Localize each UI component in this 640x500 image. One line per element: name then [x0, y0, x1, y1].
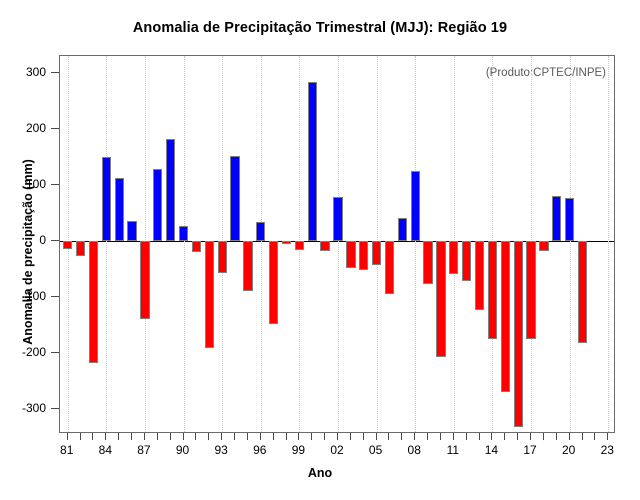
x-tick-label: 05	[369, 443, 382, 457]
plot-area: (Produto:CPTEC/INPE)	[59, 55, 615, 433]
bar-2015	[501, 241, 510, 392]
x-tick-mark	[131, 433, 132, 440]
x-tick-mark	[337, 433, 338, 440]
chart-figure: Anomalia de Precipitação Trimestral (MJJ…	[0, 0, 640, 500]
x-tick-mark	[273, 433, 274, 440]
gridline-vertical	[415, 56, 416, 432]
gridline-vertical	[608, 56, 609, 432]
x-tick-mark	[183, 433, 184, 440]
y-tick-mark	[51, 352, 59, 353]
bar-1991	[192, 241, 201, 252]
bar-1990	[179, 226, 188, 241]
x-tick-mark	[144, 433, 145, 440]
x-tick-mark	[530, 433, 531, 440]
bar-2011	[449, 241, 458, 275]
x-tick-mark	[324, 433, 325, 440]
bar-1987	[140, 241, 149, 319]
x-tick-mark	[221, 433, 222, 440]
y-tick-label: -200	[22, 345, 46, 359]
y-tick-label: 100	[26, 177, 46, 191]
bar-2010	[436, 241, 445, 357]
bar-1986	[127, 221, 136, 241]
bar-2004	[359, 241, 368, 270]
x-tick-label: 14	[485, 443, 498, 457]
x-tick-mark	[401, 433, 402, 440]
bar-1983	[89, 241, 98, 363]
bar-1989	[166, 139, 175, 240]
x-tick-label: 11	[447, 443, 459, 457]
x-tick-mark	[105, 433, 106, 440]
bar-2009	[423, 241, 432, 285]
bar-2001	[320, 241, 329, 251]
x-tick-mark	[582, 433, 583, 440]
x-tick-mark	[556, 433, 557, 440]
x-tick-mark	[517, 433, 518, 440]
x-tick-label: 08	[408, 443, 421, 457]
bar-1985	[115, 178, 124, 241]
bar-2002	[333, 197, 342, 241]
bar-2021	[578, 241, 587, 343]
y-tick-mark	[51, 72, 59, 73]
x-tick-label: 90	[176, 443, 189, 457]
x-tick-mark	[427, 433, 428, 440]
x-tick-label: 02	[330, 443, 343, 457]
bar-2008	[411, 171, 420, 240]
x-tick-mark	[543, 433, 544, 440]
x-tick-mark	[607, 433, 608, 440]
gridline-vertical	[570, 56, 571, 432]
y-tick-label: 200	[26, 121, 46, 135]
y-axis: Anomalia de precipitação (mm) 3002001000…	[0, 55, 59, 433]
bar-2006	[385, 241, 394, 294]
bar-2003	[346, 241, 355, 268]
bar-1993	[218, 241, 227, 273]
x-tick-mark	[298, 433, 299, 440]
x-tick-mark	[247, 433, 248, 440]
source-annotation: (Produto:CPTEC/INPE)	[486, 67, 606, 79]
x-tick-mark	[157, 433, 158, 440]
y-tick-mark	[51, 240, 59, 241]
bar-1999	[295, 241, 304, 251]
x-tick-mark	[453, 433, 454, 440]
x-tick-mark	[440, 433, 441, 440]
bar-2016	[514, 241, 523, 427]
bar-2012	[462, 241, 471, 281]
x-tick-mark	[208, 433, 209, 440]
x-axis-title: Ano	[0, 466, 640, 480]
bar-2014	[488, 241, 497, 339]
x-tick-mark	[466, 433, 467, 440]
y-tick-mark	[51, 128, 59, 129]
x-tick-mark	[350, 433, 351, 440]
x-tick-mark	[286, 433, 287, 440]
bar-2017	[526, 241, 535, 339]
x-tick-label: 81	[60, 443, 73, 457]
x-tick-mark	[569, 433, 570, 440]
x-tick-label: 23	[601, 443, 614, 457]
x-tick-mark	[195, 433, 196, 440]
bar-2007	[398, 218, 407, 241]
bar-1998	[282, 241, 291, 244]
chart-title: Anomalia de Precipitação Trimestral (MJJ…	[0, 20, 640, 36]
x-tick-label: 87	[137, 443, 150, 457]
x-tick-mark	[234, 433, 235, 440]
bar-1992	[205, 241, 214, 349]
x-tick-mark	[388, 433, 389, 440]
bar-1995	[243, 241, 252, 291]
bar-1982	[76, 241, 85, 257]
x-tick-mark	[376, 433, 377, 440]
x-tick-mark	[311, 433, 312, 440]
gridline-vertical	[261, 56, 262, 432]
bar-1988	[153, 169, 162, 241]
x-tick-mark	[504, 433, 505, 440]
bar-2020	[565, 198, 574, 241]
x-tick-mark	[118, 433, 119, 440]
x-tick-mark	[80, 433, 81, 440]
bar-2000	[308, 82, 317, 240]
y-tick-label: 300	[26, 65, 46, 79]
bar-1997	[269, 241, 278, 324]
gridline-vertical	[106, 56, 107, 432]
bar-1984	[102, 157, 111, 241]
x-tick-label: 93	[214, 443, 227, 457]
x-tick-label: 96	[253, 443, 266, 457]
x-tick-mark	[414, 433, 415, 440]
bar-1994	[230, 156, 239, 241]
x-tick-label: 99	[292, 443, 305, 457]
x-tick-label: 20	[562, 443, 575, 457]
bar-2005	[372, 241, 381, 265]
x-tick-mark	[491, 433, 492, 440]
x-tick-mark	[260, 433, 261, 440]
x-tick-mark	[363, 433, 364, 440]
y-tick-label: -100	[22, 289, 46, 303]
bar-2013	[475, 241, 484, 310]
y-tick-mark	[51, 184, 59, 185]
y-tick-mark	[51, 296, 59, 297]
bar-2019	[552, 196, 561, 241]
bar-2018	[539, 241, 548, 251]
x-tick-mark	[67, 433, 68, 440]
bar-1996	[256, 222, 265, 240]
x-tick-mark	[92, 433, 93, 440]
y-tick-mark	[51, 408, 59, 409]
x-tick-label: 17	[523, 443, 536, 457]
x-tick-mark	[594, 433, 595, 440]
bar-1981	[63, 241, 72, 249]
x-tick-mark	[170, 433, 171, 440]
x-tick-label: 84	[99, 443, 112, 457]
gridline-vertical	[184, 56, 185, 432]
gridline-vertical	[338, 56, 339, 432]
y-tick-label: -300	[22, 401, 46, 415]
y-tick-label: 0	[39, 233, 46, 247]
x-tick-mark	[479, 433, 480, 440]
